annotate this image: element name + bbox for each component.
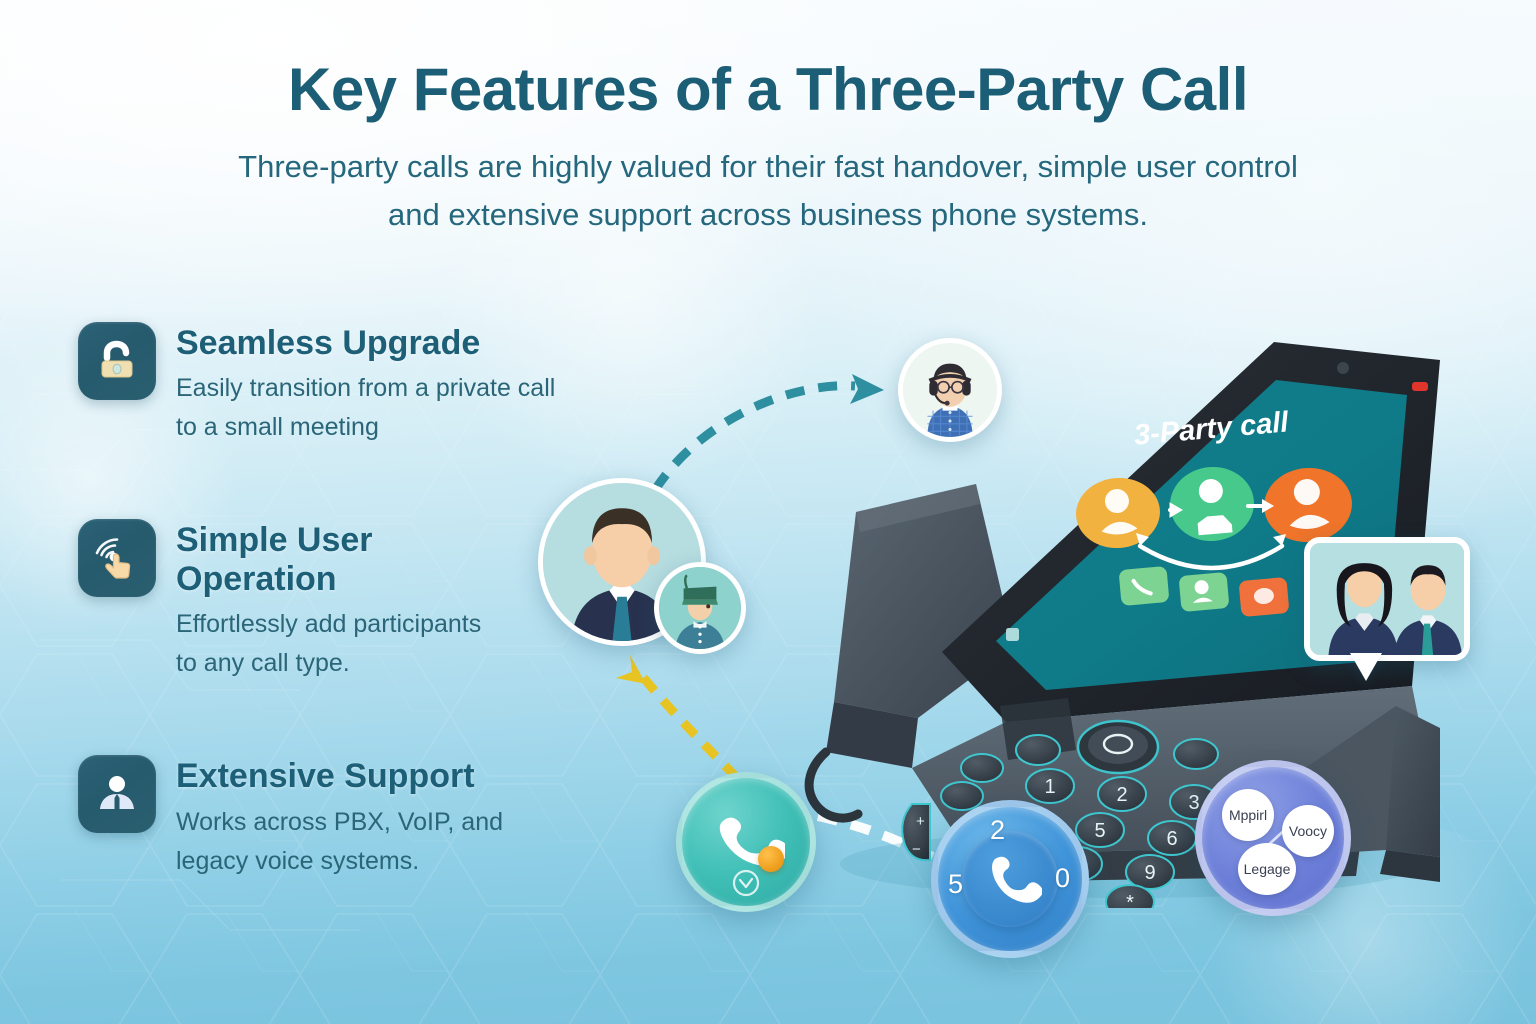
svg-text:6: 6 (1166, 828, 1177, 850)
feature-item-extensive-support[interactable]: Extensive Support Works across PBX, VoIP… (78, 755, 638, 880)
feature-title-line-1: Simple User (176, 521, 481, 559)
compat-tag-1[interactable]: Mppirl (1222, 789, 1274, 841)
check-circle-icon (731, 868, 761, 898)
svg-text:*: * (1126, 892, 1134, 908)
feature-item-simple-user-operation[interactable]: Simple User Operation Effortlessly add p… (78, 519, 638, 683)
feature-title: Extensive Support (176, 757, 503, 795)
header: Key Features of a Three-Party Call Three… (0, 58, 1536, 239)
feature-text-simple-user-operation: Simple User Operation Effortlessly add p… (176, 519, 481, 683)
feature-desc-line-2: to any call type. (176, 644, 481, 683)
feature-title: Simple User Operation (176, 521, 481, 598)
incoming-call-badge[interactable] (676, 772, 816, 912)
feature-desc-line-2: to a small meeting (176, 408, 555, 447)
unlock-padlock-icon (78, 322, 156, 400)
svg-text:9: 9 (1144, 862, 1155, 884)
feature-desc-line-1: Effortlessly add participants (176, 605, 481, 644)
compat-tag-2[interactable]: Voocy (1282, 805, 1334, 857)
feature-description: Works across PBX, VoIP, and legacy voice… (176, 803, 503, 881)
feature-title-line-2: Operation (176, 560, 481, 598)
feature-text-seamless-upgrade: Seamless Upgrade Easily transition from … (176, 322, 555, 447)
feature-title: Seamless Upgrade (176, 324, 555, 362)
dial-pad-badge[interactable]: 2 5 0 (931, 800, 1089, 958)
speech-bubble-tail (1350, 653, 1382, 681)
feature-desc-line-1: Works across PBX, VoIP, and (176, 803, 503, 842)
feature-desc-line-2: legacy voice systems. (176, 842, 503, 881)
feature-description: Easily transition from a private call to… (176, 369, 555, 447)
infographic-canvas: Key Features of a Three-Party Call Three… (0, 0, 1536, 1024)
svg-text:5: 5 (1094, 820, 1105, 842)
compat-tag-3[interactable]: Legage (1238, 843, 1296, 895)
support-agent-headset-avatar[interactable] (898, 338, 1002, 442)
systems-compatibility-badge[interactable]: Mppirl Voocy Legage (1195, 760, 1351, 916)
touch-tap-hand-icon (78, 519, 156, 597)
svg-text:3: 3 (1188, 792, 1199, 814)
svg-text:2: 2 (1116, 784, 1127, 806)
subtitle-line-2: and extensive support across business ph… (168, 191, 1368, 239)
person-with-cap-avatar[interactable] (654, 562, 746, 654)
dial-digit-5: 5 (948, 869, 963, 900)
svg-text:+: + (916, 813, 925, 830)
two-colleagues-speech-card[interactable] (1304, 537, 1470, 661)
feature-description: Effortlessly add participants to any cal… (176, 605, 481, 683)
svg-text:1: 1 (1044, 776, 1055, 798)
status-dot-orange (758, 846, 784, 872)
phone-handset-icon (978, 847, 1042, 911)
page-subtitle: Three-party calls are highly valued for … (168, 143, 1368, 239)
page-title: Key Features of a Three-Party Call (0, 58, 1536, 121)
feature-item-seamless-upgrade[interactable]: Seamless Upgrade Easily transition from … (78, 322, 638, 447)
two-people-group-icon (78, 755, 156, 833)
dial-digit-0: 0 (1055, 863, 1070, 894)
svg-text:−: − (912, 841, 921, 858)
subtitle-line-1: Three-party calls are highly valued for … (168, 143, 1368, 191)
feature-text-extensive-support: Extensive Support Works across PBX, VoIP… (176, 755, 503, 880)
dial-digit-2: 2 (990, 815, 1005, 846)
feature-list: Seamless Upgrade Easily transition from … (78, 322, 638, 881)
feature-desc-line-1: Easily transition from a private call (176, 369, 555, 408)
